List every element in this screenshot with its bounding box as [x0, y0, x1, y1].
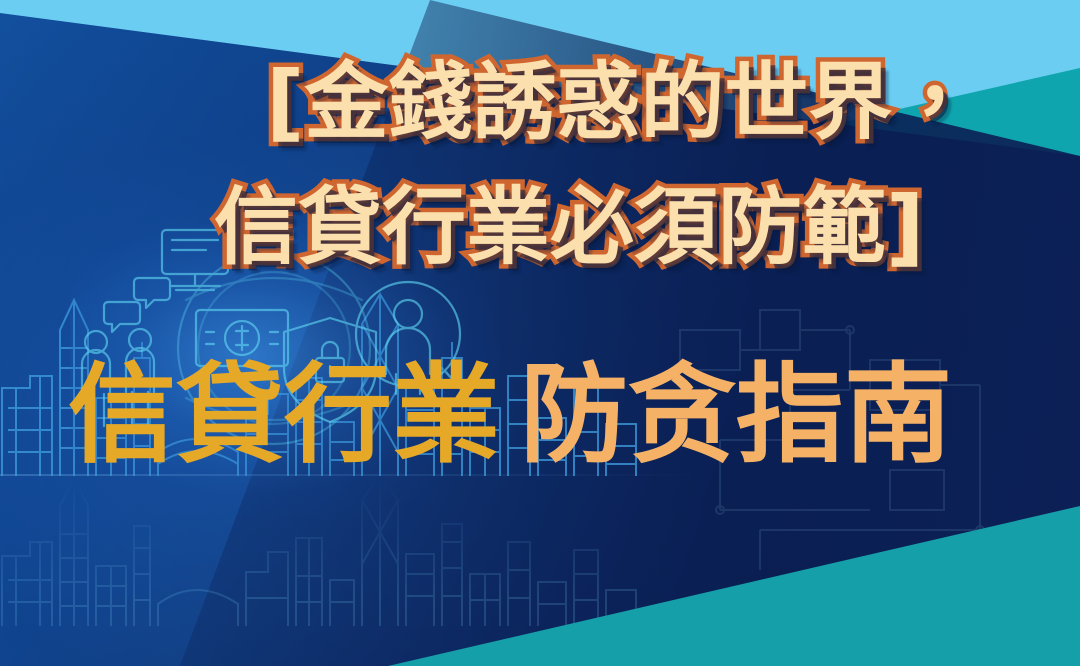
skyline-reflection — [0, 476, 640, 626]
subtitle-line-1: [金錢誘惑的世界， — [266, 60, 976, 144]
subtitle-line-2: 信貸行業必須防範] — [214, 185, 924, 269]
main-title-part-1: 信貸行業 — [68, 362, 500, 470]
main-title-part-2: 防贪指南 — [520, 362, 952, 470]
poster-canvas: [金錢誘惑的世界， 信貸行業必須防範] 信貸行業 防贪指南 — [0, 0, 1080, 666]
